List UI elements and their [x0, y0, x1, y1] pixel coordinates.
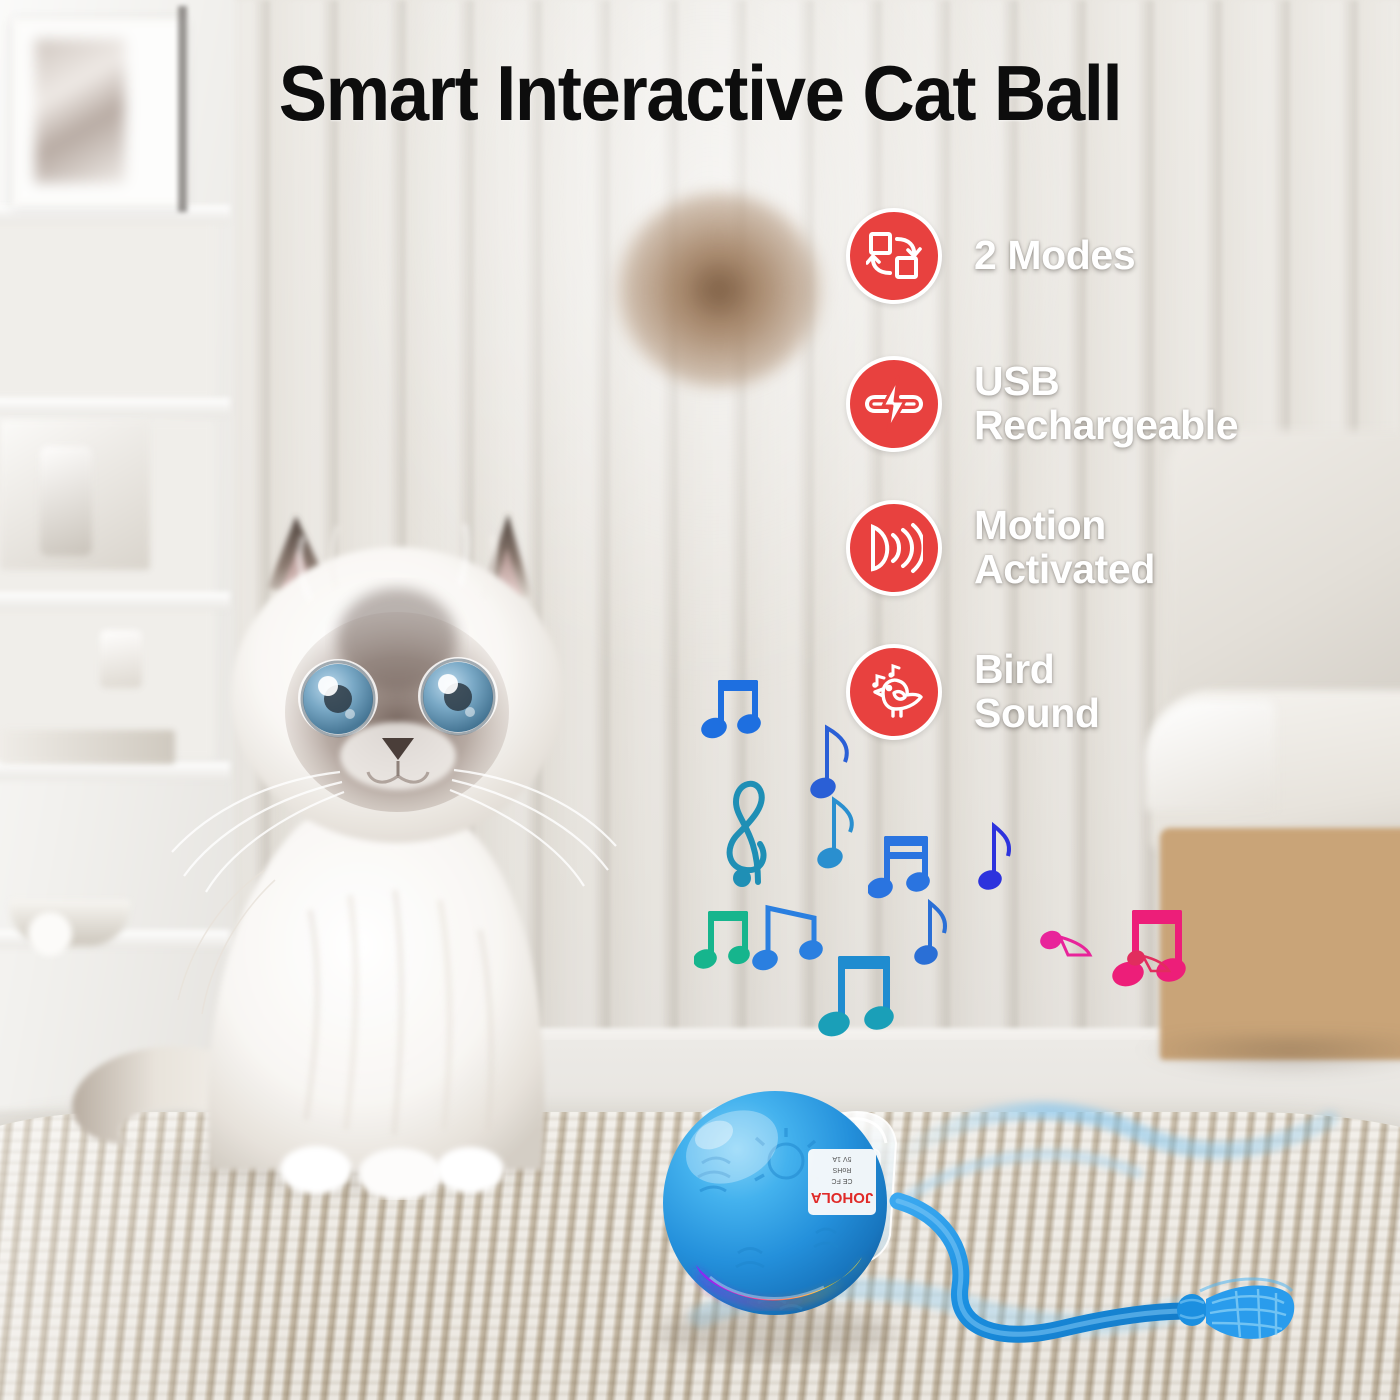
- svg-text:RoHS: RoHS: [832, 1166, 851, 1173]
- product-cat-ball: JOHOLA CE FC RoHS 5V 1A: [640, 1085, 1380, 1385]
- rope-tassel: [1200, 1279, 1294, 1339]
- music-note-eighth-4: [908, 895, 964, 975]
- two-modes-icon: [846, 208, 942, 304]
- feature-label-usb: USB Rechargeable: [974, 360, 1238, 448]
- music-note-small-pink-1: [1038, 925, 1096, 969]
- feature-row-two-modes: 2 Modes: [846, 208, 1316, 304]
- feature-row-usb: USB Rechargeable: [846, 356, 1316, 452]
- treble-clef-icon: [712, 772, 804, 896]
- music-note-eighth-3: [972, 818, 1028, 898]
- bird-sound-icon: [846, 644, 942, 740]
- feature-label-motion: Motion Activated: [974, 504, 1155, 592]
- music-note-beamed-5: [818, 948, 916, 1066]
- wall-feather-decoration: [614, 190, 824, 390]
- music-note-beamed-4: [694, 905, 766, 989]
- feature-row-bird: Bird Sound: [846, 644, 1316, 740]
- music-note-beamed-1: [700, 672, 790, 762]
- svg-text:CE FC: CE FC: [832, 1177, 853, 1184]
- feature-row-motion: Motion Activated: [846, 500, 1316, 596]
- feature-label-bird: Bird Sound: [974, 648, 1100, 736]
- page-title: Smart Interactive Cat Ball: [49, 48, 1351, 139]
- rope-tail: [898, 1201, 1294, 1339]
- motion-sensor-icon: [846, 500, 942, 596]
- brand-label: JOHOLA CE FC RoHS 5V 1A: [808, 1149, 876, 1215]
- feature-label-two-modes: 2 Modes: [974, 234, 1135, 278]
- music-note-small-pink-2: [1125, 945, 1175, 983]
- music-note-eighth-2: [812, 790, 870, 876]
- svg-text:5V 1A: 5V 1A: [832, 1155, 851, 1162]
- product-marketing-image: JOHOLA CE FC RoHS 5V 1A: [0, 0, 1400, 1400]
- cat-photo: [60, 480, 680, 1200]
- brand-name: JOHOLA: [811, 1189, 874, 1206]
- usb-charge-icon: [846, 356, 942, 452]
